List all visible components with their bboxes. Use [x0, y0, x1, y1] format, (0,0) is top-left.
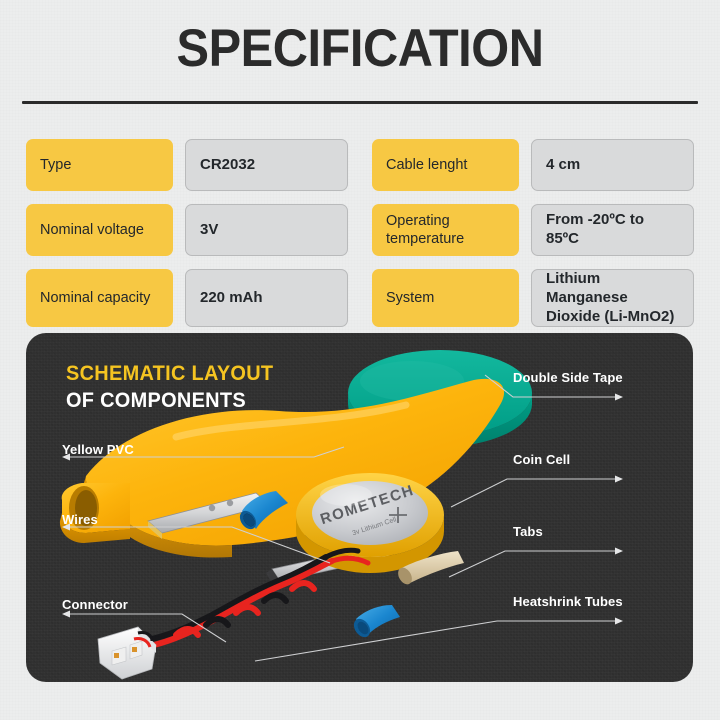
- leader-line-wires: [62, 501, 362, 571]
- callout-connector: Connector: [62, 588, 362, 648]
- leader-line-connector: [62, 588, 362, 648]
- callout-wires: Wires: [62, 501, 362, 571]
- leader-line-tabs: [443, 515, 623, 557]
- schematic-panel: SCHEMATIC LAYOUT OF COMPONENTS: [26, 333, 693, 682]
- leader-line-double-side-tape: [453, 361, 633, 401]
- spec-label-cable-length: Cable lenght: [372, 139, 519, 191]
- callout-heatshrink-tubes: Heatshrink Tubes: [513, 585, 693, 627]
- spec-label-type: Type: [26, 139, 173, 191]
- table-row: Nominal voltage 3V: [26, 204, 348, 256]
- spec-label-operating-temperature: Operating temperature: [372, 204, 519, 256]
- leader-line-heatshrink-tubes: [373, 585, 553, 627]
- callout-double-side-tape: Double Side Tape: [513, 361, 693, 401]
- table-row: Type CR2032: [26, 139, 348, 191]
- spec-value-system: Lithium Manganese Dioxide (Li-MnO2): [531, 269, 694, 327]
- table-row: System Lithium Manganese Dioxide (Li-MnO…: [372, 269, 694, 327]
- spec-value-operating-temperature: From -20ºC to 85ºC: [531, 204, 694, 256]
- spec-label-nominal-capacity: Nominal capacity: [26, 269, 173, 327]
- leader-line-coin-cell: [443, 443, 623, 485]
- spec-label-system: System: [372, 269, 519, 327]
- spec-value-nominal-voltage: 3V: [185, 204, 348, 256]
- callout-tabs: Tabs: [513, 515, 693, 557]
- leader-line-yellow-pvc: [62, 429, 362, 463]
- page-title: SPECIFICATION: [29, 22, 691, 75]
- schematic-heading-line1: SCHEMATIC LAYOUT: [66, 361, 273, 388]
- table-row: Nominal capacity 220 mAh: [26, 269, 348, 327]
- table-row: Operating temperature From -20ºC to 85ºC: [372, 204, 694, 256]
- callout-coin-cell: Coin Cell: [513, 443, 693, 485]
- schematic-heading-line2: OF COMPONENTS: [66, 388, 273, 415]
- table-row: Cable lenght 4 cm: [372, 139, 694, 191]
- specification-table: Type CR2032 Cable lenght 4 cm Nominal vo…: [26, 139, 694, 327]
- spec-value-type: CR2032: [185, 139, 348, 191]
- spec-value-nominal-capacity: 220 mAh: [185, 269, 348, 327]
- spec-label-nominal-voltage: Nominal voltage: [26, 204, 173, 256]
- header-divider: [22, 101, 698, 104]
- callout-yellow-pvc: Yellow PVC: [62, 429, 362, 463]
- spec-value-cable-length: 4 cm: [531, 139, 694, 191]
- schematic-heading: SCHEMATIC LAYOUT OF COMPONENTS: [66, 361, 284, 415]
- header: SPECIFICATION: [0, 22, 720, 75]
